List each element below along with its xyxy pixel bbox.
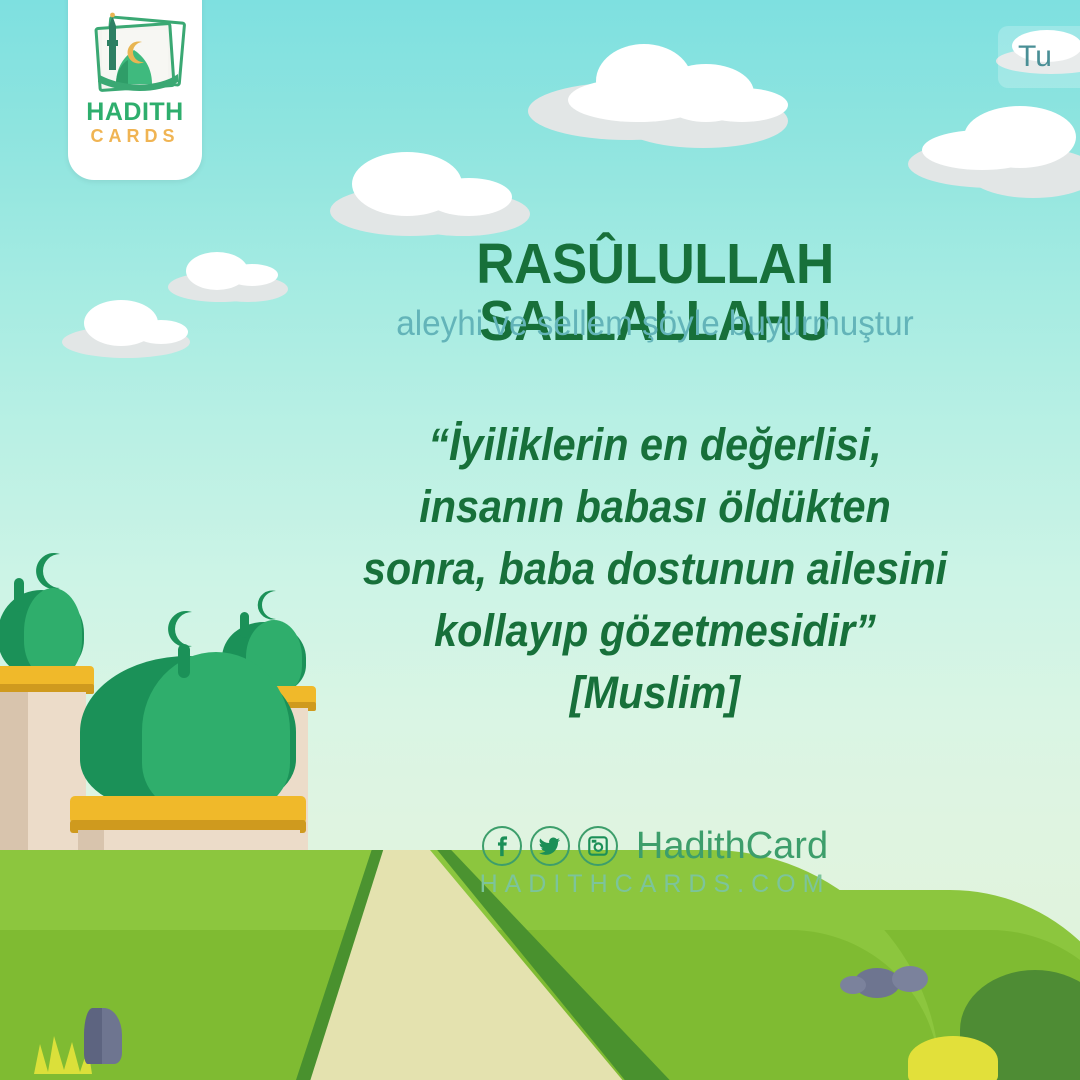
hadith-quote: “İyiliklerin en değerlisi, insanın babas… [328,414,981,724]
social-handle[interactable]: HadithCard [636,827,828,865]
quote-line: kollayıp gözetmesidir” [328,600,981,662]
dome-right-finial [240,612,249,638]
quote-line: “İyiliklerin en değerlisi, [328,414,981,476]
page-subtitle: aleyhi ve sellem şöyle buyurmuştur [318,306,993,341]
twitter-icon[interactable] [530,826,570,866]
content-area: RASÛLULLAH SALLALLAHU aleyhi ve sellem ş… [300,0,1060,1080]
hadith-card: HADITH CARDS Tu RASÛLULLAH SALLALLAHU al… [0,0,1080,1080]
instagram-icon[interactable] [578,826,618,866]
facebook-icon[interactable] [482,826,522,866]
dome-center-highlight [142,652,290,810]
quote-line: insanın babası öldükten [328,476,981,538]
rock-left-shade [84,1008,102,1064]
mosque-photo-cards-icon [82,12,188,98]
crescent-icon-left [30,550,70,592]
quote-source: [Muslim] [328,662,981,724]
logo-badge[interactable]: HADITH CARDS [68,0,202,180]
logo-word-cards: CARDS [68,126,202,147]
website-url[interactable]: HADITHCARDS.COM [300,870,1010,899]
crescent-icon-right [252,588,284,622]
logo-word-hadith: HADITH [68,98,202,127]
cloud-4 [168,250,288,302]
dome-left-finial [14,578,24,612]
cloud-5 [62,298,202,358]
footer: HadithCard HADITHCARDS.COM [300,826,1010,899]
dome-center-finial [178,644,190,678]
quote-line: sonra, baba dostunun ailesini [328,538,981,600]
social-row: HadithCard [300,826,1010,866]
dome-left-highlight [24,588,82,676]
